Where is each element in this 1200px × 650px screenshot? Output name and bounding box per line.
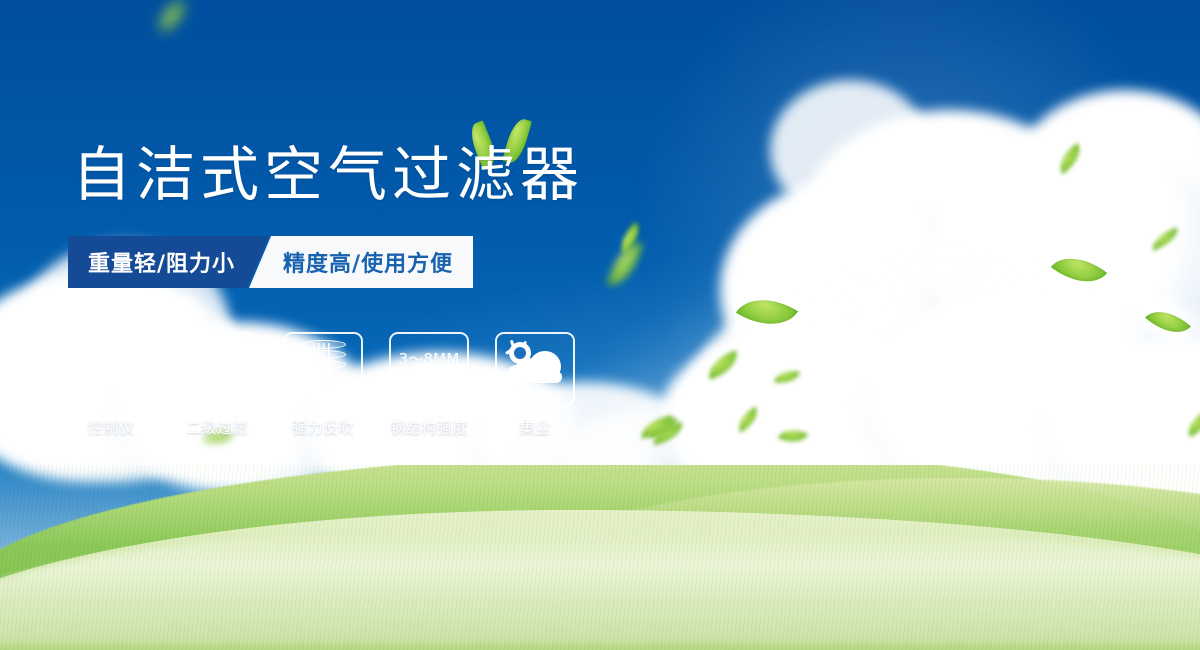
air-caption: Air: [505, 385, 565, 398]
subtitle-left: 重量轻/阻力小: [68, 236, 269, 288]
product-banner: 自洁式空气过滤器 重量轻/阻力小 精度高/使用方便: [0, 0, 1200, 650]
coil-icon: [300, 340, 346, 398]
feature-label: 强力反吹: [292, 417, 354, 438]
pressure-unit: MPA: [185, 369, 249, 388]
steel-text: 3～8MM 钢板: [399, 350, 460, 388]
feature-label: 钢结构强度: [390, 417, 468, 438]
steel-material: 钢板: [399, 369, 460, 388]
feature-label: 控制仪: [88, 417, 135, 438]
steel-thickness: 3～8MM: [399, 350, 460, 368]
gauge-label-off: OFF: [128, 385, 142, 392]
pressure-text: 0.6～0.8 MPA: [185, 350, 249, 388]
feature-icon-box: 0.6～0.8 MPA: [177, 332, 257, 406]
gauge-icon: NO OFF: [78, 339, 144, 399]
pressure-range: 0.6～0.8: [185, 350, 249, 368]
feature-label: 二级过滤: [186, 417, 248, 438]
gauge-label-no: NO: [79, 364, 90, 371]
feature-item-two-stage-filter[interactable]: 0.6～0.8 MPA 二级过滤: [174, 332, 260, 438]
feature-icon-box: NO OFF: [71, 332, 151, 406]
cloud-sun-icon: Air: [505, 340, 565, 384]
subtitle-bar: 重量轻/阻力小 精度高/使用方便: [68, 236, 473, 288]
feature-list: NO OFF 控制仪 0.6～0.8 MPA 二级过滤: [68, 332, 578, 438]
feature-item-dust-collection[interactable]: Air 集尘: [492, 332, 578, 438]
feature-item-steel-strength[interactable]: 3～8MM 钢板 钢结构强度: [386, 332, 472, 438]
feature-item-controller[interactable]: NO OFF 控制仪: [68, 332, 154, 438]
feature-icon-box: 3～8MM 钢板: [389, 332, 469, 406]
page-title: 自洁式空气过滤器: [72, 145, 584, 204]
feature-icon-box: [283, 332, 363, 406]
feature-label: 集尘: [519, 417, 550, 438]
subtitle-right: 精度高/使用方便: [249, 236, 473, 288]
feature-icon-box: Air: [495, 332, 575, 406]
feature-item-strong-blowback[interactable]: 强力反吹: [280, 332, 366, 438]
